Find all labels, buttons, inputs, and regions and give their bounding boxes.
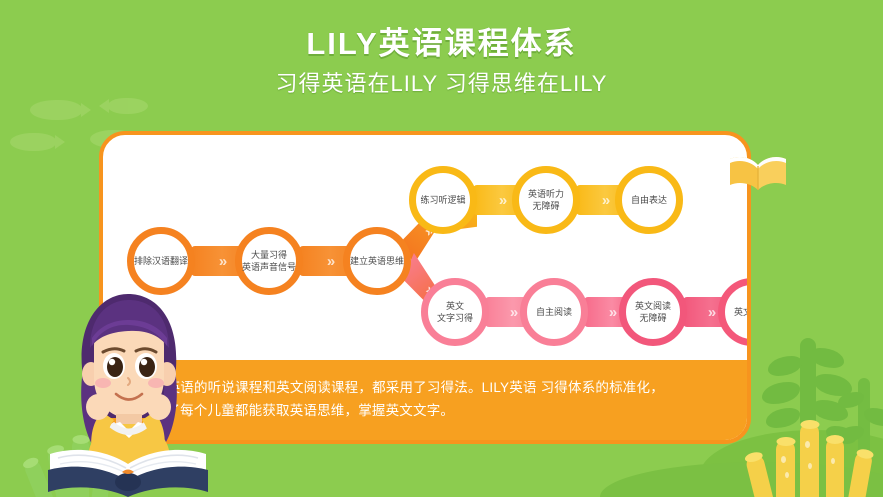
flow-node-listening-0[interactable]: 练习听逻辑 [409,166,477,234]
open-book-icon [727,152,789,196]
flow-node-listening-2[interactable]: 自由表达 [615,166,683,234]
flow-node-trunk-2[interactable]: 建立英语思维 [343,227,411,295]
flow-node-label: 练习听逻辑 [420,194,465,206]
chevron-right-icon: » [602,193,608,208]
flow-node-label: 英文阅读 [635,300,671,312]
girl-reading-icon [48,286,208,497]
chevron-right-icon: » [499,193,505,208]
chevron-right-icon: » [327,254,333,269]
coral-icon [800,423,819,497]
flow-node-reading-2[interactable]: 英文阅读 无障碍 [619,278,687,346]
flow-node-listening-1[interactable]: 英语听力 无障碍 [512,166,580,234]
flow-node-label: 自主阅读 [536,306,572,318]
chevron-right-icon: » [708,305,714,320]
fish-icon [10,133,56,151]
coral-icon [826,438,844,497]
fish-icon [30,100,82,120]
flow-node-label-2: 英语声音信号 [242,261,296,273]
flow-node-label: 英语听力 [528,188,564,200]
flow-node-trunk-1[interactable]: 大量习得 英语声音信号 [235,227,303,295]
chevron-right-icon: » [609,305,615,320]
flow-node-reading-3[interactable]: 英文写作 [718,278,751,346]
flow-node-label-2: 文字习得 [437,312,473,324]
flow-node-trunk-0[interactable]: 排除汉语翻译 [127,227,195,295]
flow-node-reading-1[interactable]: 自主阅读 [520,278,588,346]
flow-node-label: 大量习得 [242,249,296,261]
caption-line-2: 确保了每个儿童都能获取英语思维，掌握英文文字。 [139,399,725,422]
poster-stage: LILY英语课程体系 习得英语在LILY 习得思维在LILY » » » » » [0,0,883,497]
flow-node-label: 排除汉语翻译 [134,255,188,267]
chevron-right-icon: » [510,305,516,320]
flow-node-label: 建立英语思维 [350,255,404,267]
flow-node-reading-0[interactable]: 英文 文字习得 [421,278,489,346]
flow-node-label: 英文写作 [734,306,751,318]
page-subtitle: 习得英语在LILY 习得思维在LILY [0,70,883,98]
page-title: LILY英语课程体系 [0,24,883,64]
caption-line-1: LILY英语的听说课程和英文阅读课程，都采用了习得法。LILY英语 习得体系的标… [139,376,725,399]
flow-node-label: 自由表达 [631,194,667,206]
flow-node-label: 英文 [437,300,473,312]
chevron-right-icon: » [219,254,225,269]
poster-header: LILY英语课程体系 习得英语在LILY 习得思维在LILY [0,24,883,98]
flow-node-label-2: 无障碍 [635,312,671,324]
coral-icon [776,440,795,497]
fish-icon [108,98,148,114]
flow-node-label-2: 无障碍 [528,200,564,212]
